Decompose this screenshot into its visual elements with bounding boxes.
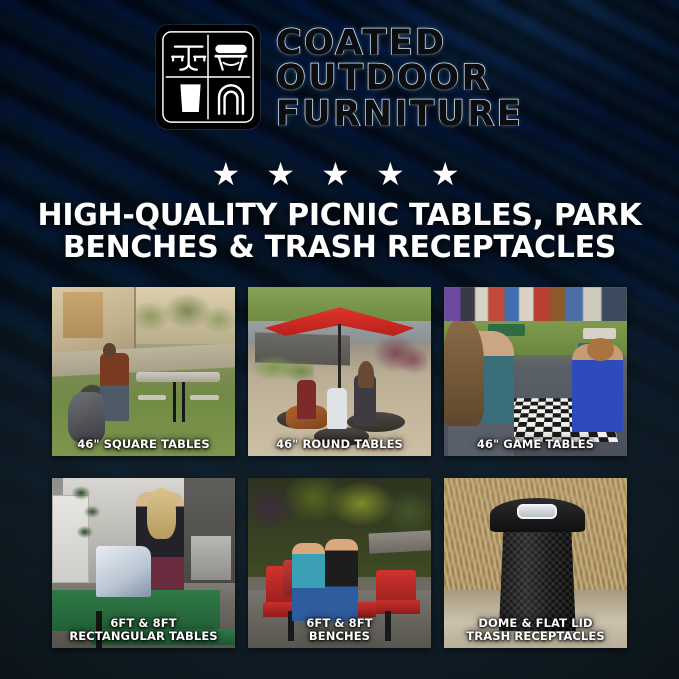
caption-line-2: TRASH RECEPTACLES — [447, 630, 624, 643]
tile-caption: 6FT & 8FT BENCHES — [251, 617, 428, 643]
caption-line-1: 46" GAME TABLES — [447, 438, 624, 451]
logo-mark-icon — [156, 25, 260, 129]
product-tile-game-tables[interactable]: 46" GAME TABLES — [444, 287, 627, 456]
caption-line-2: BENCHES — [251, 630, 428, 643]
logo-word-furniture: FURNITURE — [276, 97, 523, 131]
logo-word-outdoor: OUTDOOR — [276, 61, 523, 95]
headline-line-1: HIGH-QUALITY PICNIC TABLES, PARK — [38, 198, 642, 233]
caption-line-1: 46" ROUND TABLES — [251, 438, 428, 451]
product-tile-trash-receptacles[interactable]: DOME & FLAT LID TRASH RECEPTACLES — [444, 478, 627, 648]
product-tile-round-tables[interactable]: 46" ROUND TABLES — [248, 287, 431, 456]
headline-line-2: BENCHES & TRASH RECEPTACLES — [30, 232, 649, 264]
square-tables-photo — [52, 287, 235, 456]
tile-caption: 46" ROUND TABLES — [251, 438, 428, 451]
trash-receptacle-icon — [180, 85, 200, 113]
caption-line-2: RECTANGULAR TABLES — [55, 630, 232, 643]
product-tile-rectangular-tables[interactable]: 6FT & 8FT RECTANGULAR TABLES — [52, 478, 235, 648]
tile-caption: DOME & FLAT LID TRASH RECEPTACLES — [447, 617, 624, 643]
brand-logo: COATED OUTDOOR FURNITURE — [0, 24, 679, 131]
product-tile-square-tables[interactable]: 46" SQUARE TABLES — [52, 287, 235, 456]
logo-wordmark: COATED OUTDOOR FURNITURE — [276, 24, 523, 131]
page-title: HIGH-QUALITY PICNIC TABLES, PARK BENCHES… — [30, 200, 649, 265]
round-tables-photo — [248, 287, 431, 456]
logo-word-coated: COATED — [276, 26, 523, 60]
caption-line-1: 46" SQUARE TABLES — [55, 438, 232, 451]
product-category-grid: 46" SQUARE TABLES 46" ROUND TABLES — [52, 287, 628, 648]
tile-caption: 46" SQUARE TABLES — [55, 438, 232, 451]
five-star-rating: ★ ★ ★ ★ ★ — [0, 158, 679, 190]
banner-content: COATED OUTDOOR FURNITURE ★ ★ ★ ★ ★ HIGH-… — [0, 0, 679, 679]
tile-caption: 6FT & 8FT RECTANGULAR TABLES — [55, 617, 232, 643]
game-tables-photo — [444, 287, 627, 456]
product-tile-benches[interactable]: 6FT & 8FT BENCHES — [248, 478, 431, 648]
tile-caption: 46" GAME TABLES — [447, 438, 624, 451]
